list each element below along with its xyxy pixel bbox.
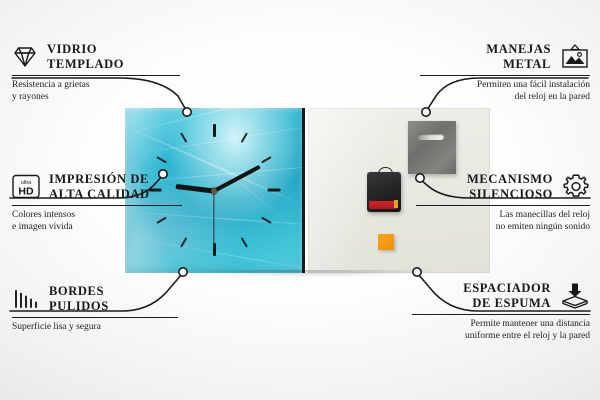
feature-title: BORDES PULIDOS xyxy=(49,284,109,313)
feature-description: Las manecillas del reloj no emiten ningú… xyxy=(414,210,590,233)
feature-title: MANEJAS METAL xyxy=(486,42,551,71)
feature-title: MECANISMO SILENCIOSO xyxy=(467,172,553,201)
clock-tick xyxy=(213,124,216,137)
diamond-icon xyxy=(12,45,38,69)
feature-description: Permite mantener una distancia uniforme … xyxy=(410,319,590,342)
hanger-slot xyxy=(418,134,444,140)
divider xyxy=(12,205,182,206)
clock-tick xyxy=(156,156,167,163)
battery xyxy=(369,201,397,209)
clock-tick xyxy=(267,189,280,192)
divider xyxy=(12,75,180,76)
ultra-hd-icon: ultra HD xyxy=(12,174,40,199)
divider xyxy=(12,317,178,318)
feature-description: Superficie lisa y segura xyxy=(12,322,180,334)
clock-center-cap xyxy=(211,188,217,194)
clock-second-hand xyxy=(213,191,214,249)
feature-vidrio-templado: VIDRIO TEMPLADO Resistencia a grietas y … xyxy=(12,42,182,103)
picture-hanger-icon xyxy=(560,44,590,70)
clock-tick xyxy=(240,237,247,248)
feature-description: Colores intensos e imagen vívida xyxy=(12,210,184,233)
clock-movement xyxy=(367,172,401,212)
hanger-plate xyxy=(408,121,456,174)
divider xyxy=(420,75,590,76)
foam-spacer xyxy=(378,234,394,250)
movement-hanger-loop xyxy=(378,167,393,175)
feature-mecanismo-silencioso: MECANISMO SILENCIOSO Las manecillas del … xyxy=(414,172,590,233)
clock-tick xyxy=(261,156,272,163)
foam-spacer-icon xyxy=(560,282,590,309)
polished-edges-icon xyxy=(12,288,40,310)
divider xyxy=(416,205,590,206)
feature-bordes-pulidos: BORDES PULIDOS Superficie lisa y segura xyxy=(12,284,180,334)
svg-text:HD: HD xyxy=(18,186,34,198)
feature-impresion-alta-calidad: ultra HD IMPRESIÓN DE ALTA CALIDAD Color… xyxy=(12,172,184,233)
feature-description: Resistencia a grietas y rayones xyxy=(12,80,182,103)
divider xyxy=(412,314,590,315)
gear-icon xyxy=(562,173,590,200)
feature-title: VIDRIO TEMPLADO xyxy=(47,42,124,71)
feature-manejas-metal: MANEJAS METAL Permiten una fácil instala… xyxy=(418,42,590,103)
feature-description: Permiten una fácil instalación del reloj… xyxy=(418,80,590,103)
infographic-canvas: VIDRIO TEMPLADO Resistencia a grietas y … xyxy=(0,0,600,400)
feature-espaciador-espuma: ESPACIADOR DE ESPUMA Permite mantener un… xyxy=(410,281,590,342)
feature-title: ESPACIADOR DE ESPUMA xyxy=(463,281,551,310)
feature-title: IMPRESIÓN DE ALTA CALIDAD xyxy=(49,172,150,201)
battery-terminal xyxy=(394,200,398,208)
